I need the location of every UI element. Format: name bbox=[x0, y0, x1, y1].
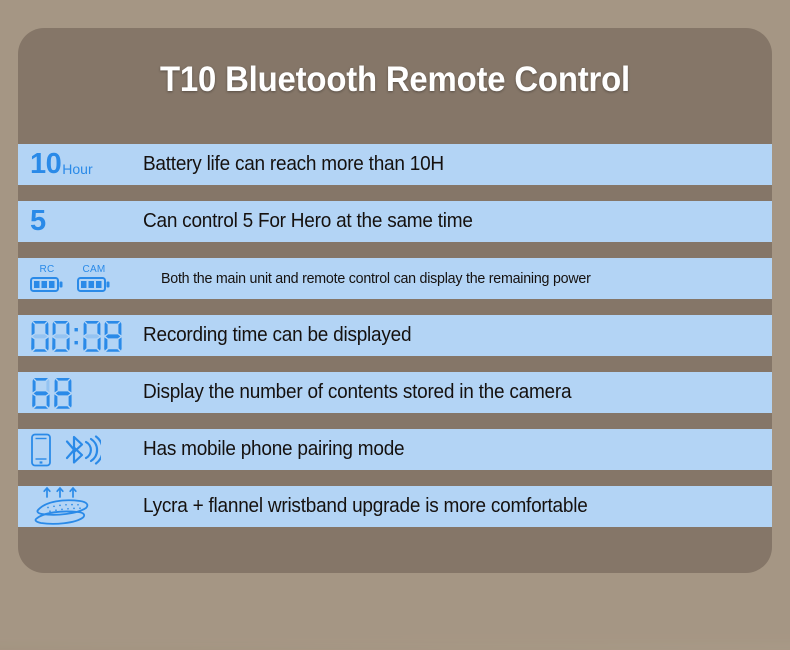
breathable-fabric-icon bbox=[18, 486, 143, 527]
battery-hours-icon: 10Hour bbox=[18, 144, 143, 185]
seven-segment-clock-glyph bbox=[30, 319, 124, 352]
list-item-label: Can control 5 For Hero at the same time bbox=[143, 210, 473, 233]
battery-hours-unit: Hour bbox=[62, 161, 92, 177]
list-item-label: Lycra + flannel wristband upgrade is mor… bbox=[143, 495, 588, 518]
battery-glyph bbox=[30, 276, 64, 293]
list-item: Display the number of contents stored in… bbox=[18, 372, 772, 413]
page-title: T10 Bluetooth Remote Control bbox=[41, 60, 750, 100]
battery-glyph bbox=[77, 276, 111, 293]
list-item: Lycra + flannel wristband upgrade is mor… bbox=[18, 486, 772, 527]
list-item: 5 Can control 5 For Hero at the same tim… bbox=[18, 201, 772, 242]
list-item: Recording time can be displayed bbox=[18, 315, 772, 356]
smartphone-icon bbox=[30, 433, 52, 467]
list-item-label: Both the main unit and remote control ca… bbox=[161, 270, 591, 287]
bluetooth-signal-icon bbox=[63, 434, 101, 466]
feature-list: 10Hour Battery life can reach more than … bbox=[18, 144, 772, 527]
battery-hours-value: 10 bbox=[30, 150, 61, 179]
list-item: Has mobile phone pairing mode bbox=[18, 429, 772, 470]
seven-segment-counter-glyph bbox=[30, 376, 76, 409]
list-item-label: Has mobile phone pairing mode bbox=[143, 438, 404, 461]
breathable-fabric-glyph bbox=[30, 486, 96, 528]
list-item: RC CAM bbox=[18, 258, 772, 299]
list-item-label: Battery life can reach more than 10H bbox=[143, 153, 444, 176]
list-item-label: Recording time can be displayed bbox=[143, 324, 411, 347]
count-icon: 5 bbox=[18, 201, 143, 242]
list-item-label: Display the number of contents stored in… bbox=[143, 381, 571, 404]
rc-battery-label: RC bbox=[39, 265, 54, 275]
cam-battery-icon: CAM bbox=[77, 265, 111, 293]
cam-battery-label: CAM bbox=[82, 265, 105, 275]
phone-bluetooth-icon bbox=[18, 429, 143, 470]
list-item: 10Hour Battery life can reach more than … bbox=[18, 144, 772, 185]
count-value: 5 bbox=[30, 207, 46, 236]
dual-battery-icon: RC CAM bbox=[18, 258, 143, 299]
rc-battery-icon: RC bbox=[30, 265, 64, 293]
lcd-counter-icon bbox=[18, 372, 143, 413]
lcd-clock-icon bbox=[18, 315, 143, 356]
